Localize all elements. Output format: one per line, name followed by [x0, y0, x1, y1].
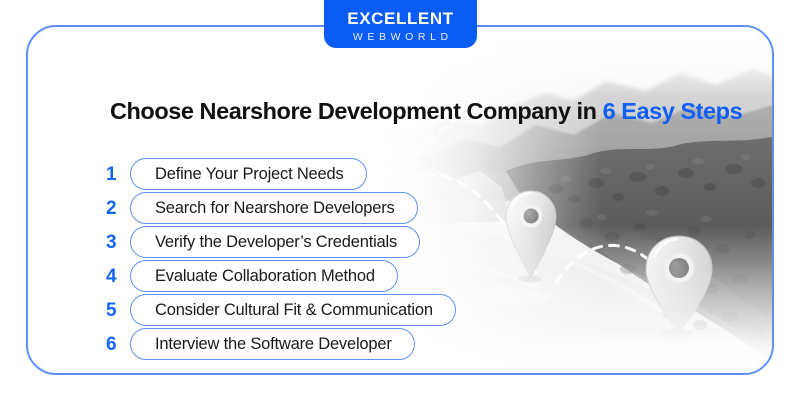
step-item-5[interactable]: 5 Consider Cultural Fit & Communication	[106, 294, 456, 326]
step-number-1: 1	[106, 165, 130, 184]
step-label-5[interactable]: Consider Cultural Fit & Communication	[130, 294, 456, 326]
infographic-card: Choose Nearshore Development Company in …	[26, 25, 774, 375]
page-title-accent: 6 Easy Steps	[603, 98, 743, 124]
brand-name-secondary: WEBWORLD	[353, 32, 453, 43]
step-number-2: 2	[106, 199, 130, 218]
step-item-2[interactable]: 2 Search for Nearshore Developers	[106, 192, 456, 224]
brand-logo-badge[interactable]: EXCELLENT WEBWORLD	[324, 0, 477, 48]
infographic-canvas: Choose Nearshore Development Company in …	[0, 0, 800, 400]
step-item-1[interactable]: 1 Define Your Project Needs	[106, 158, 456, 190]
page-title-plain: Choose Nearshore Development Company in	[110, 98, 603, 124]
page-title: Choose Nearshore Development Company in …	[110, 98, 742, 125]
step-item-6[interactable]: 6 Interview the Software Developer	[106, 328, 456, 360]
step-label-4[interactable]: Evaluate Collaboration Method	[130, 260, 398, 292]
step-number-6: 6	[106, 335, 130, 354]
step-label-1[interactable]: Define Your Project Needs	[130, 158, 367, 190]
step-label-2[interactable]: Search for Nearshore Developers	[130, 192, 418, 224]
step-number-4: 4	[106, 267, 130, 286]
steps-list: 1 Define Your Project Needs 2 Search for…	[106, 158, 456, 362]
step-label-3[interactable]: Verify the Developer’s Credentials	[130, 226, 420, 258]
step-number-3: 3	[106, 233, 130, 252]
brand-name-primary: EXCELLENT	[347, 10, 453, 27]
step-number-5: 5	[106, 301, 130, 320]
step-label-6[interactable]: Interview the Software Developer	[130, 328, 415, 360]
step-item-4[interactable]: 4 Evaluate Collaboration Method	[106, 260, 456, 292]
step-item-3[interactable]: 3 Verify the Developer’s Credentials	[106, 226, 456, 258]
